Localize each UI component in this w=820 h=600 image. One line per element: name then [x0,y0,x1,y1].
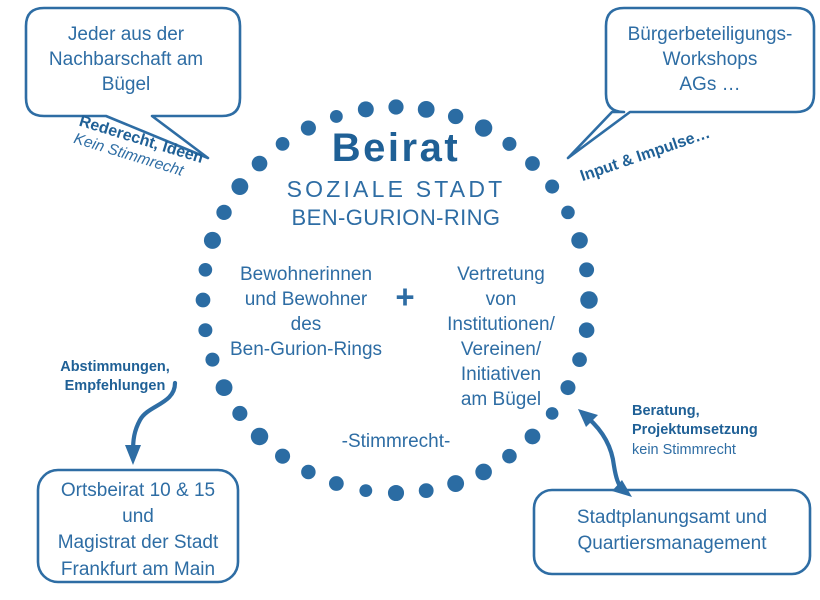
ring-dot [330,110,343,123]
ring-dot [388,485,404,501]
ring-dot [216,379,233,396]
ring-dot [301,120,316,135]
ring-dot [560,380,575,395]
ring-dot [204,232,221,249]
ring-dot [545,180,559,194]
ring-dot [388,99,403,114]
box-bottom-left-shape [38,470,238,582]
arrow-down-left-icon [125,383,175,465]
ring-dot [251,428,268,445]
ring-dot [252,156,268,172]
ring-dot [525,429,541,445]
ring-dot [275,449,290,464]
ring-dot [419,483,434,498]
ring-dot [216,205,231,220]
box-bottom-right-shape [534,490,810,574]
callout-top-left-shape [26,8,240,158]
ring-dot [475,119,492,136]
double-headed-arrow-icon [578,409,632,497]
ring-dot [502,137,516,151]
ring-dot [205,353,219,367]
ring-dot [232,406,247,421]
ring-of-dots [196,99,598,501]
ring-dot [561,206,575,220]
ring-dot [579,322,595,338]
ring-dot [580,291,597,308]
ring-dot [198,323,212,337]
ring-dot [572,352,587,367]
ring-dot [301,465,316,480]
ring-dot [525,156,540,171]
ring-dot [199,263,213,277]
ring-dot [329,476,344,491]
ring-dot [276,137,290,151]
ring-dot [448,109,463,124]
ring-dot [571,232,588,249]
ring-dot [231,178,248,195]
ring-dot [447,475,464,492]
diagram-vector-layer [0,0,820,600]
ring-dot [546,407,559,420]
ring-dot [196,293,211,308]
diagram-canvas: Jeder aus der Nachbarschaft am Bügel Red… [0,0,820,600]
ring-dot [358,101,374,117]
callout-top-right-shape [568,8,814,158]
ring-dot [418,101,435,118]
ring-dot [475,464,492,481]
ring-dot [359,484,372,497]
ring-dot [579,262,594,277]
ring-dot [502,449,517,464]
